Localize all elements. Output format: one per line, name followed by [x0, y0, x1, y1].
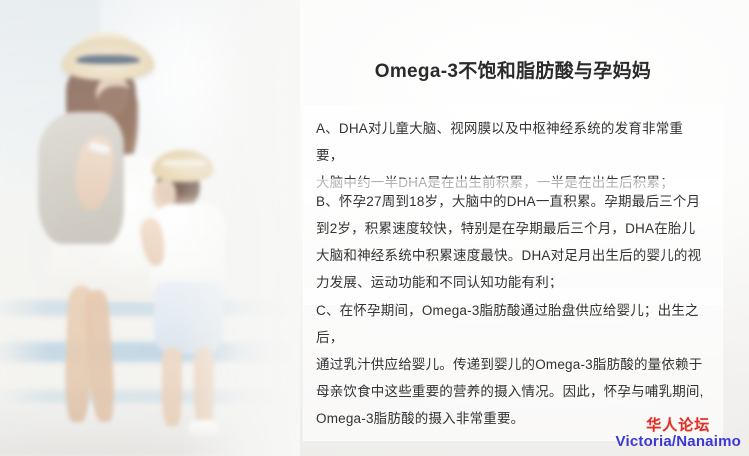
deck-floor [0, 404, 300, 456]
railing-slat-3 [0, 390, 300, 405]
card-a-line-1: A、DHA对儿童大脑、视网膜以及中枢神经系统的发育非常重要， [316, 115, 709, 169]
card-c-line-1: C、在怀孕期间，Omega-3脂肪酸通过胎盘供应给婴儿；出生之后， [316, 297, 709, 351]
card-b-line-1: B、怀孕27周到18岁，大脑中的DHA一直积累。孕期最后三个月 [316, 188, 709, 215]
railing-slat-1 [0, 300, 300, 316]
child-straw-hat [152, 150, 214, 182]
watermark-english: Victoria/Nanaimo [616, 434, 741, 450]
child-leg-right [194, 348, 214, 426]
card-b-line-2: 到2岁，积累速度较快，特别是在孕期最后三个月，DHA在胎儿 [316, 215, 709, 242]
card-c-line-2: 通过乳汁供应给婴儿。传递到婴儿的Omega-3脂肪酸的量依赖于 [316, 351, 709, 378]
card-c-line-3: 母亲饮食中这些重要的营养的摄入情况。因此，怀孕与哺乳期间, [316, 378, 709, 405]
hero-photo [0, 0, 300, 456]
text-card-b: B、怀孕27周到18岁，大脑中的DHA一直积累。孕期最后三个月 到2岁，积累速度… [303, 179, 723, 305]
railing-slat-2 [0, 342, 300, 362]
slide-root: Omega-3不饱和脂肪酸与孕妈妈 A、DHA对儿童大脑、视网膜以及中枢神经系统… [0, 0, 749, 456]
card-b-line-3: 大脑和神经系统中积累速度最快。DHA对足月出生后的婴儿的视 [316, 242, 709, 269]
child-leg-left [162, 348, 182, 426]
child-hat-band [162, 160, 206, 166]
child-shorts [154, 282, 224, 354]
page-title: Omega-3不饱和脂肪酸与孕妈妈 [303, 56, 723, 83]
child-shoe [188, 420, 220, 436]
woman-hat-band [76, 55, 140, 64]
watermark: 华人论坛 Victoria/Nanaimo [616, 418, 741, 451]
watermark-chinese: 华人论坛 [616, 418, 741, 434]
content-panel: Omega-3不饱和脂肪酸与孕妈妈 A、DHA对儿童大脑、视网膜以及中枢神经系统… [303, 0, 723, 456]
